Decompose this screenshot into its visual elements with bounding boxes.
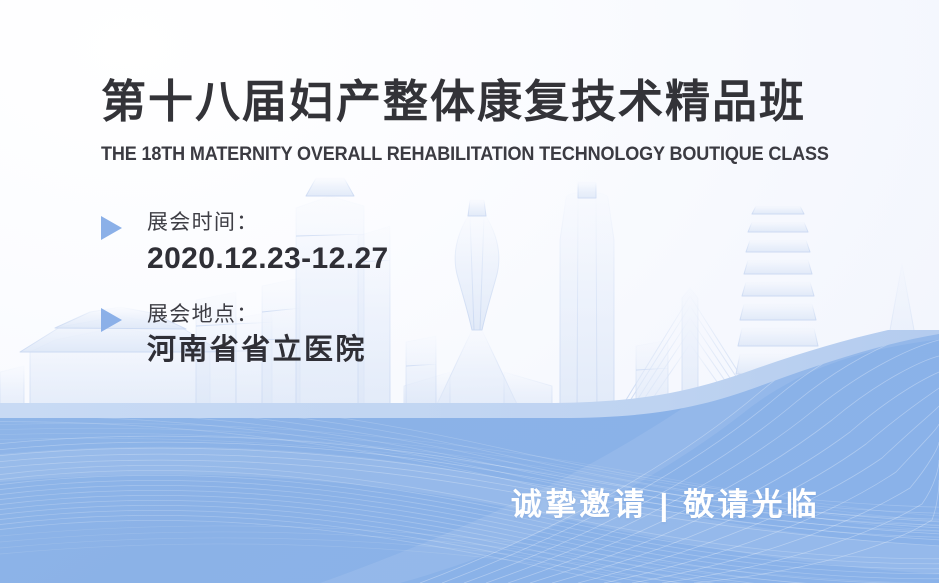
- event-place-value: 河南省省立医院: [147, 333, 367, 367]
- invitation-slogan: 诚挚邀请 | 敬请光临: [511, 479, 820, 524]
- event-time-value: 2020.12.23-12.27: [147, 241, 389, 276]
- play-triangle-icon: [101, 308, 122, 332]
- event-time-label: 展会时间：: [147, 210, 389, 236]
- play-triangle-icon: [101, 216, 122, 240]
- info-row-place: 展会地点： 河南省省立医院: [101, 302, 367, 367]
- event-place-block: 展会地点： 河南省省立医院: [101, 302, 367, 367]
- invitation-poster: 第十八届妇产整体康复技术精品班 THE 18TH MATERNITY OVERA…: [0, 0, 939, 583]
- poster-content: 第十八届妇产整体康复技术精品班 THE 18TH MATERNITY OVERA…: [0, 0, 939, 583]
- page-title: 第十八届妇产整体康复技术精品班: [101, 78, 806, 127]
- event-time-block: 展会时间： 2020.12.23-12.27: [101, 210, 389, 277]
- event-place-label: 展会地点：: [147, 302, 367, 328]
- page-subtitle: THE 18TH MATERNITY OVERALL REHABILITATIO…: [101, 144, 829, 166]
- info-row-time: 展会时间： 2020.12.23-12.27: [101, 210, 389, 277]
